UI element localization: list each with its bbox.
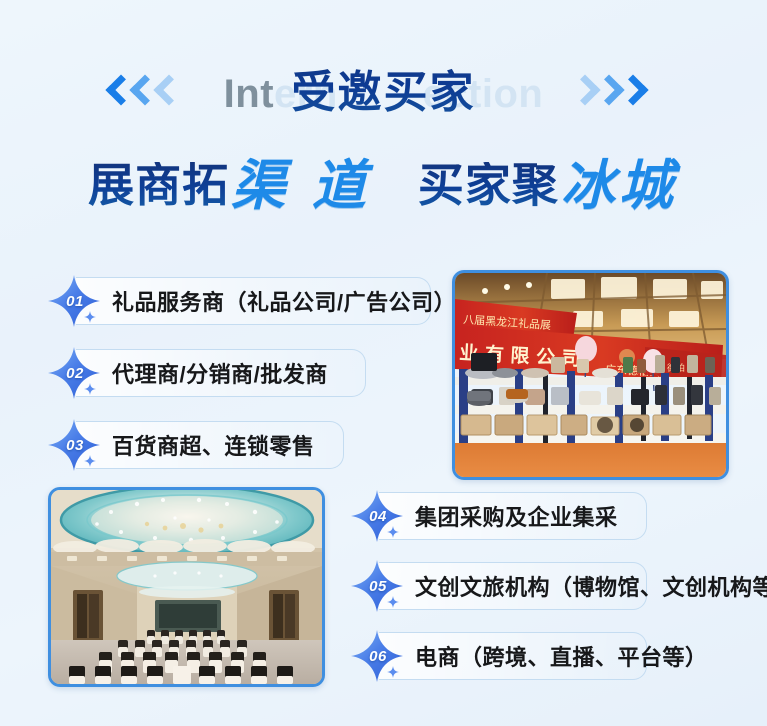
star-badge-icon: 03 bbox=[46, 417, 102, 473]
header-banner: Intern Sel ection 受邀买家 bbox=[0, 26, 767, 110]
item-number: 04 bbox=[349, 488, 406, 544]
item-label: 礼品服务商（礼品公司/广告公司） bbox=[112, 285, 456, 317]
item-number: 03 bbox=[46, 417, 103, 473]
poster-root: Intern Sel ection 受邀买家 展商拓渠 道买家聚冰城 01 礼品… bbox=[0, 0, 767, 726]
star-badge-icon: 05 bbox=[349, 558, 405, 614]
list-item[interactable]: 05 文创文旅机构（博物馆、文创机构等） bbox=[349, 558, 767, 614]
item-number: 01 bbox=[46, 273, 103, 329]
item-number: 06 bbox=[349, 628, 406, 684]
star-badge-icon: 02 bbox=[46, 345, 102, 401]
star-badge-icon: 01 bbox=[46, 273, 102, 329]
slogan-brush-2: 冰城 bbox=[561, 158, 677, 212]
item-label: 集团采购及企业集采 bbox=[415, 500, 618, 532]
slogan: 展商拓渠 道买家聚冰城 bbox=[0, 158, 767, 212]
slogan-brush-1: 渠 道 bbox=[231, 158, 370, 212]
item-number: 02 bbox=[46, 345, 103, 401]
list-item[interactable]: 04 集团采购及企业集采 bbox=[349, 488, 618, 544]
list-item[interactable]: 03 百货商超、连锁零售 bbox=[46, 417, 315, 473]
slogan-part-2: 买家聚 bbox=[418, 162, 559, 208]
item-label: 代理商/分销商/批发商 bbox=[112, 357, 328, 389]
list-item[interactable]: 02 代理商/分销商/批发商 bbox=[46, 345, 328, 401]
list-item[interactable]: 01 礼品服务商（礼品公司/广告公司） bbox=[46, 273, 456, 329]
page-title: 受邀买家 bbox=[0, 56, 767, 120]
slogan-part-1: 展商拓 bbox=[88, 162, 229, 208]
item-label: 电商（跨境、直播、平台等） bbox=[415, 640, 708, 672]
item-label: 文创文旅机构（博物馆、文创机构等） bbox=[415, 570, 767, 602]
banquet-hall-photo bbox=[48, 487, 325, 687]
item-number: 05 bbox=[349, 558, 406, 614]
list-item[interactable]: 06 电商（跨境、直播、平台等） bbox=[349, 628, 708, 684]
star-badge-icon: 06 bbox=[349, 628, 405, 684]
exhibition-booth-photo: 八届黑龙江礼品展 业 有 限 公 司 广东德柏实业 德柏 bbox=[452, 270, 729, 480]
item-label: 百货商超、连锁零售 bbox=[112, 429, 315, 461]
star-badge-icon: 04 bbox=[349, 488, 405, 544]
